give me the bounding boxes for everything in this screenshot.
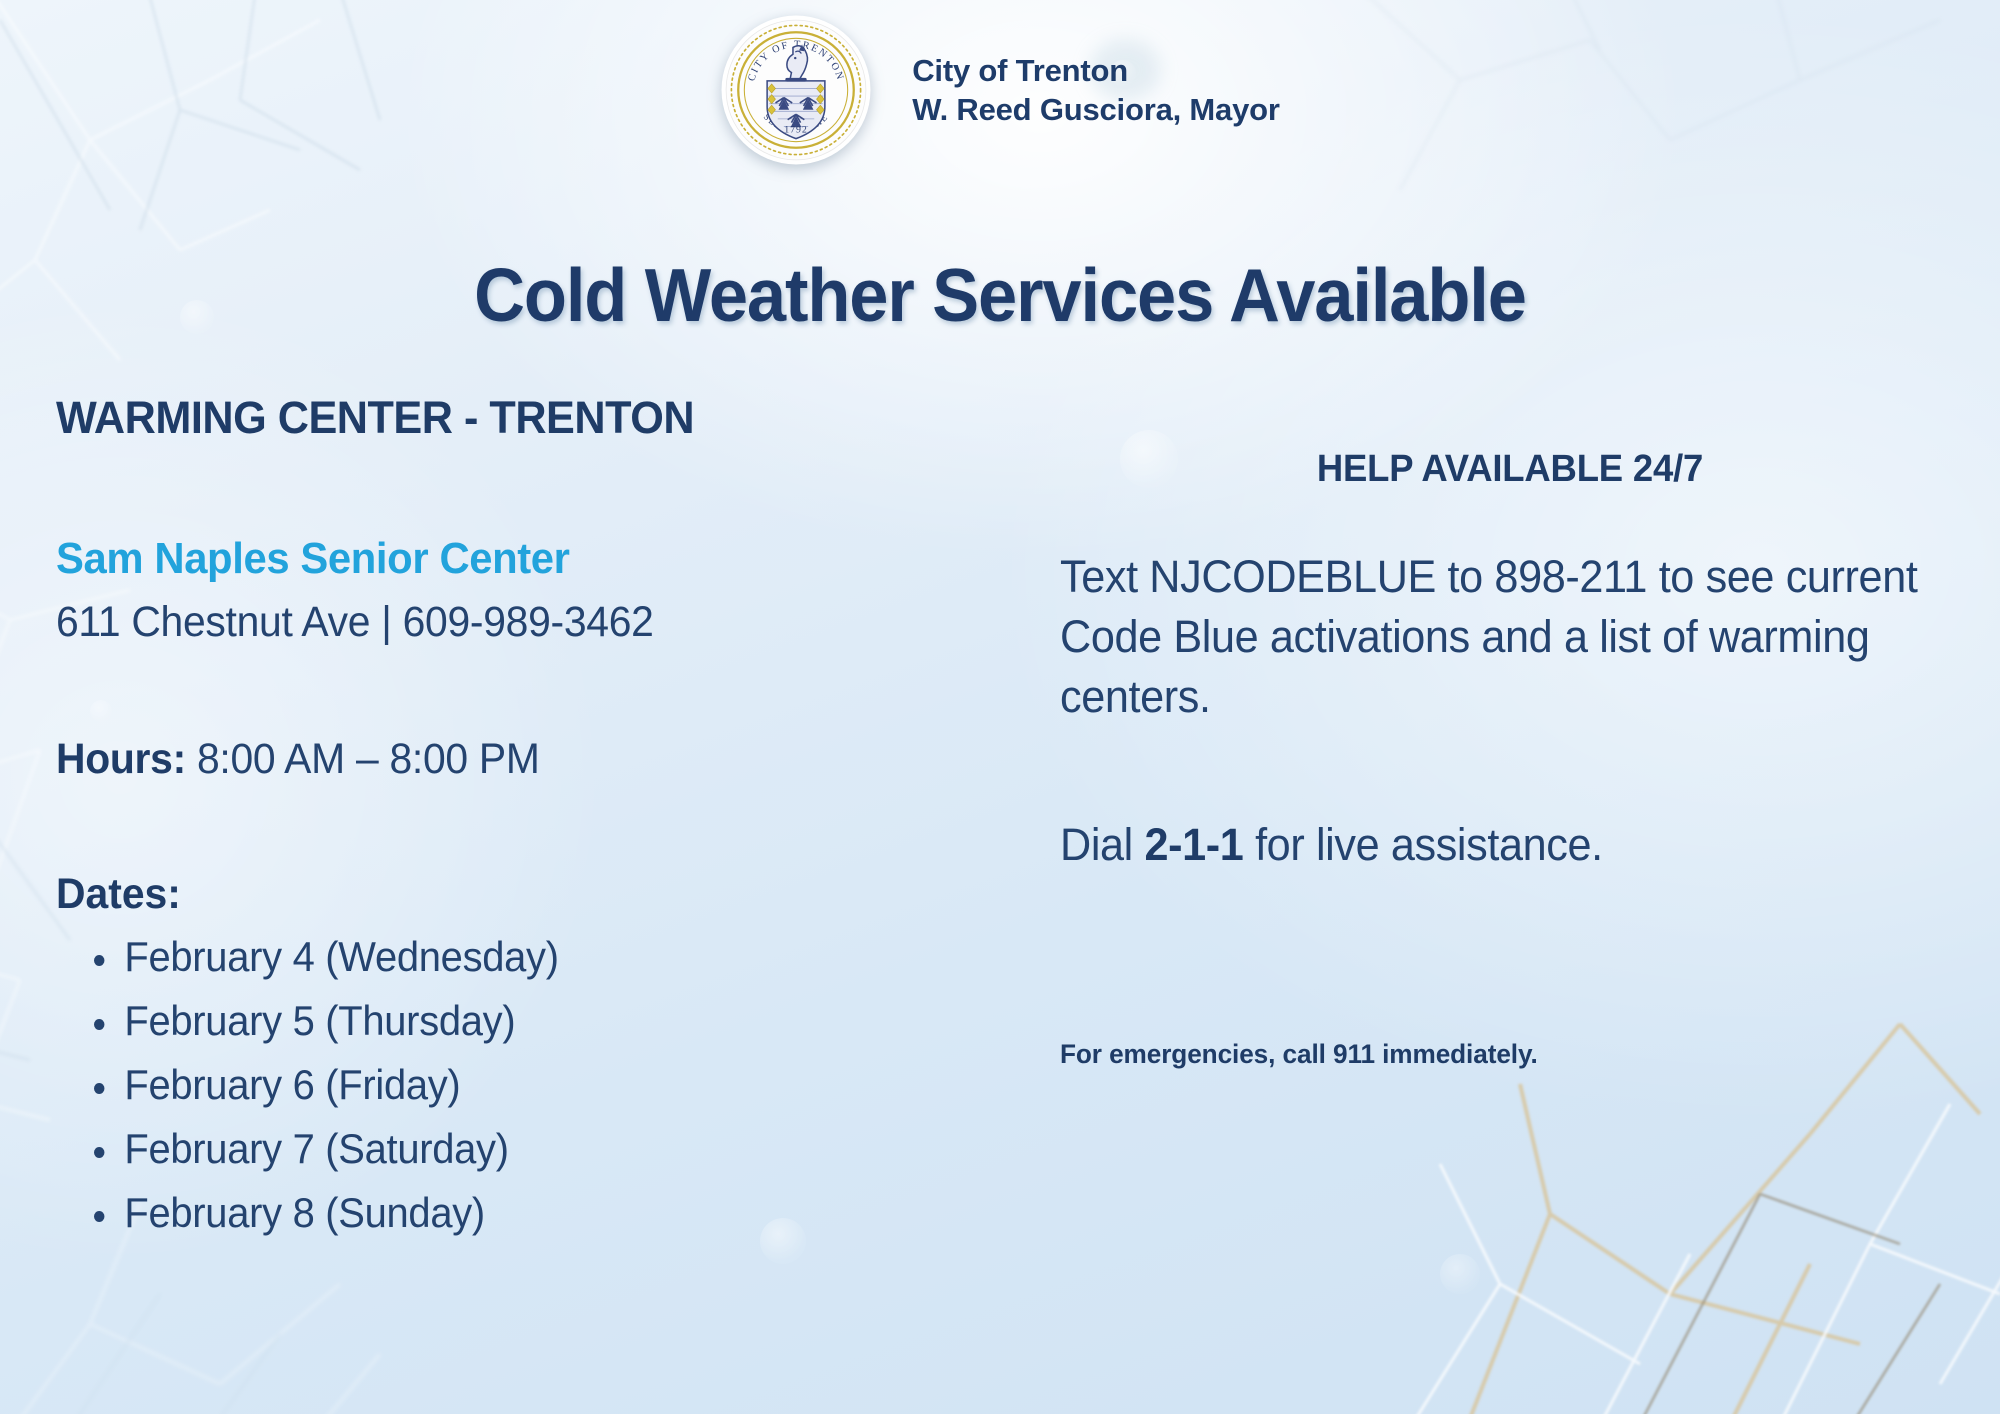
list-item: February 8 (Sunday) — [56, 1189, 940, 1237]
help-body-text: Text NJCODEBLUE to 898-211 to see curren… — [1060, 547, 1924, 727]
help-available-heading: HELP AVAILABLE 24/7 — [1078, 448, 1942, 491]
warming-center-column: WARMING CENTER - TRENTON Sam Naples Seni… — [56, 392, 986, 1253]
dates-label: Dates: — [56, 870, 940, 919]
help-column: HELP AVAILABLE 24/7 Text NJCODEBLUE to 8… — [1060, 448, 1960, 1070]
dial-prefix: Dial — [1060, 819, 1145, 870]
hours-value: 8:00 AM – 8:00 PM — [197, 735, 540, 783]
list-item: February 7 (Saturday) — [56, 1125, 940, 1173]
venue-address: 611 Chestnut Ave | 609-989-3462 — [56, 598, 940, 647]
list-item: February 6 (Friday) — [56, 1061, 940, 1109]
header-text-block: City of Trenton W. Reed Gusciora, Mayor — [912, 51, 1280, 130]
warming-center-heading: WARMING CENTER - TRENTON — [56, 392, 949, 444]
list-item: February 5 (Thursday) — [56, 997, 940, 1045]
header-line-mayor: W. Reed Gusciora, Mayor — [912, 90, 1280, 129]
bokeh-dot — [1440, 1254, 1480, 1294]
page-title: Cold Weather Services Available — [60, 252, 1940, 338]
dial-line: Dial 2-1-1 for live assistance. — [1060, 819, 1924, 871]
dial-number: 2-1-1 — [1145, 819, 1244, 870]
seal-year: 1792 — [785, 125, 808, 136]
poster-canvas: CITY OF TRENTON SEAL OF THE — [0, 0, 2000, 1414]
list-item: February 4 (Wednesday) — [56, 933, 940, 981]
header-line-city: City of Trenton — [912, 51, 1280, 90]
dates-list: February 4 (Wednesday) February 5 (Thurs… — [56, 933, 986, 1237]
city-seal-icon: CITY OF TRENTON SEAL OF THE — [720, 14, 872, 166]
emergency-note: For emergencies, call 911 immediately. — [1060, 1039, 1933, 1070]
poster-header: CITY OF TRENTON SEAL OF THE — [0, 14, 2000, 166]
hours-label: Hours: — [56, 735, 186, 783]
hours-line: Hours: 8:00 AM – 8:00 PM — [56, 735, 940, 784]
venue-name: Sam Naples Senior Center — [56, 534, 940, 584]
dial-suffix: for live assistance. — [1243, 819, 1602, 870]
